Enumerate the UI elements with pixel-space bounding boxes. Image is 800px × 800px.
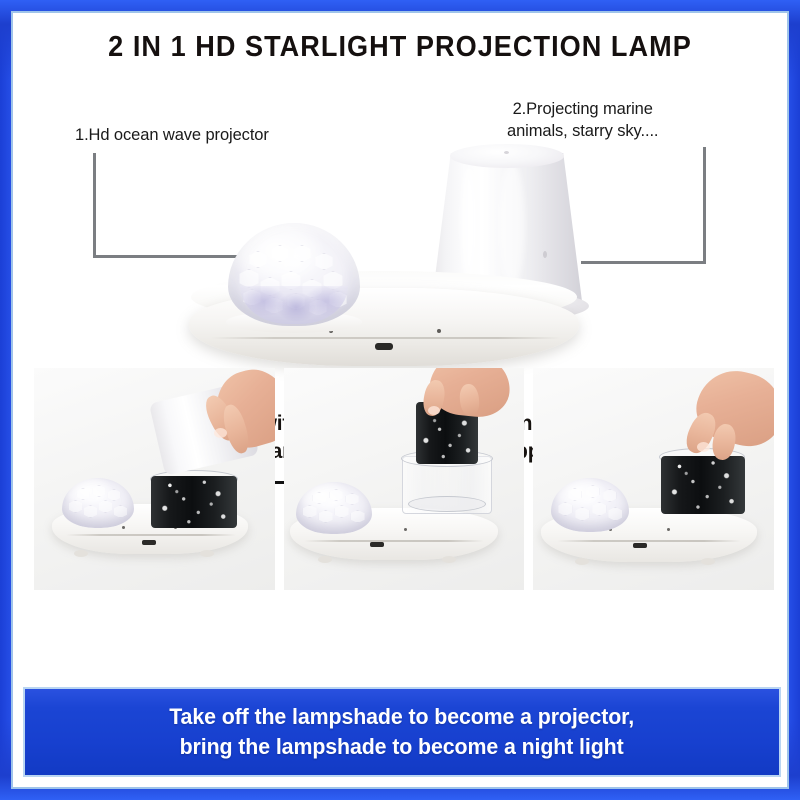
panel-lampshade-removal xyxy=(34,368,275,590)
mini-foot-left xyxy=(318,556,332,563)
lampshade-sheen-left xyxy=(461,167,477,279)
lampshade-sheen-mid xyxy=(499,163,525,287)
mini-base-seam xyxy=(66,534,236,536)
device-base-seam xyxy=(211,337,561,339)
panel-film-removal xyxy=(284,368,525,590)
lampshade-top-vent xyxy=(504,151,509,154)
star-film-cylinder xyxy=(661,456,745,514)
mini-micro-usb-port xyxy=(633,543,647,548)
banner-text: Take off the lampshade to become a proje… xyxy=(170,702,635,762)
crystal-dome-projector xyxy=(228,223,360,326)
panel-film-insert xyxy=(533,368,774,590)
mini-crystal-dome xyxy=(62,478,134,528)
mini-base-seam xyxy=(557,540,741,542)
mode-button[interactable] xyxy=(437,329,441,333)
mini-foot-left xyxy=(74,550,88,557)
mini-base-seam xyxy=(304,540,484,542)
hand-nail xyxy=(214,428,227,438)
micro-usb-port xyxy=(375,343,393,350)
banner-text-line1: Take off the lampshade to become a proje… xyxy=(170,702,635,732)
mini-crystal-dome xyxy=(551,478,629,532)
mini-foot-right xyxy=(200,550,214,557)
mini-foot-right xyxy=(442,556,456,563)
lampshade-side-mark xyxy=(543,251,547,258)
infographic-frame: 2 IN 1 HD STARLIGHT PROJECTION LAMP 1.Hd… xyxy=(0,0,800,800)
mini-crystal-dome xyxy=(296,482,372,534)
mini-mode-button xyxy=(404,528,407,531)
led-dome-inner xyxy=(408,496,486,512)
mini-foot-right xyxy=(701,558,715,565)
hand-nail xyxy=(428,406,440,415)
banner-text-line2: bring the lampshade to become a night li… xyxy=(170,732,635,762)
content-card: 2 IN 1 HD STARLIGHT PROJECTION LAMP 1.Hd… xyxy=(11,11,789,789)
mini-micro-usb-port xyxy=(370,542,384,547)
mini-micro-usb-port xyxy=(142,540,156,545)
step-panel-row xyxy=(34,368,774,590)
callout-label-2-line1: 2.Projecting marine xyxy=(507,99,658,121)
mini-power-button xyxy=(122,526,125,529)
star-film-cylinder xyxy=(151,476,237,528)
page-title: 2 IN 1 HD STARLIGHT PROJECTION LAMP xyxy=(32,31,767,64)
mini-foot-left xyxy=(575,558,589,565)
lampshade-top-ellipse xyxy=(450,144,564,168)
bottom-banner: Take off the lampshade to become a proje… xyxy=(23,687,781,777)
